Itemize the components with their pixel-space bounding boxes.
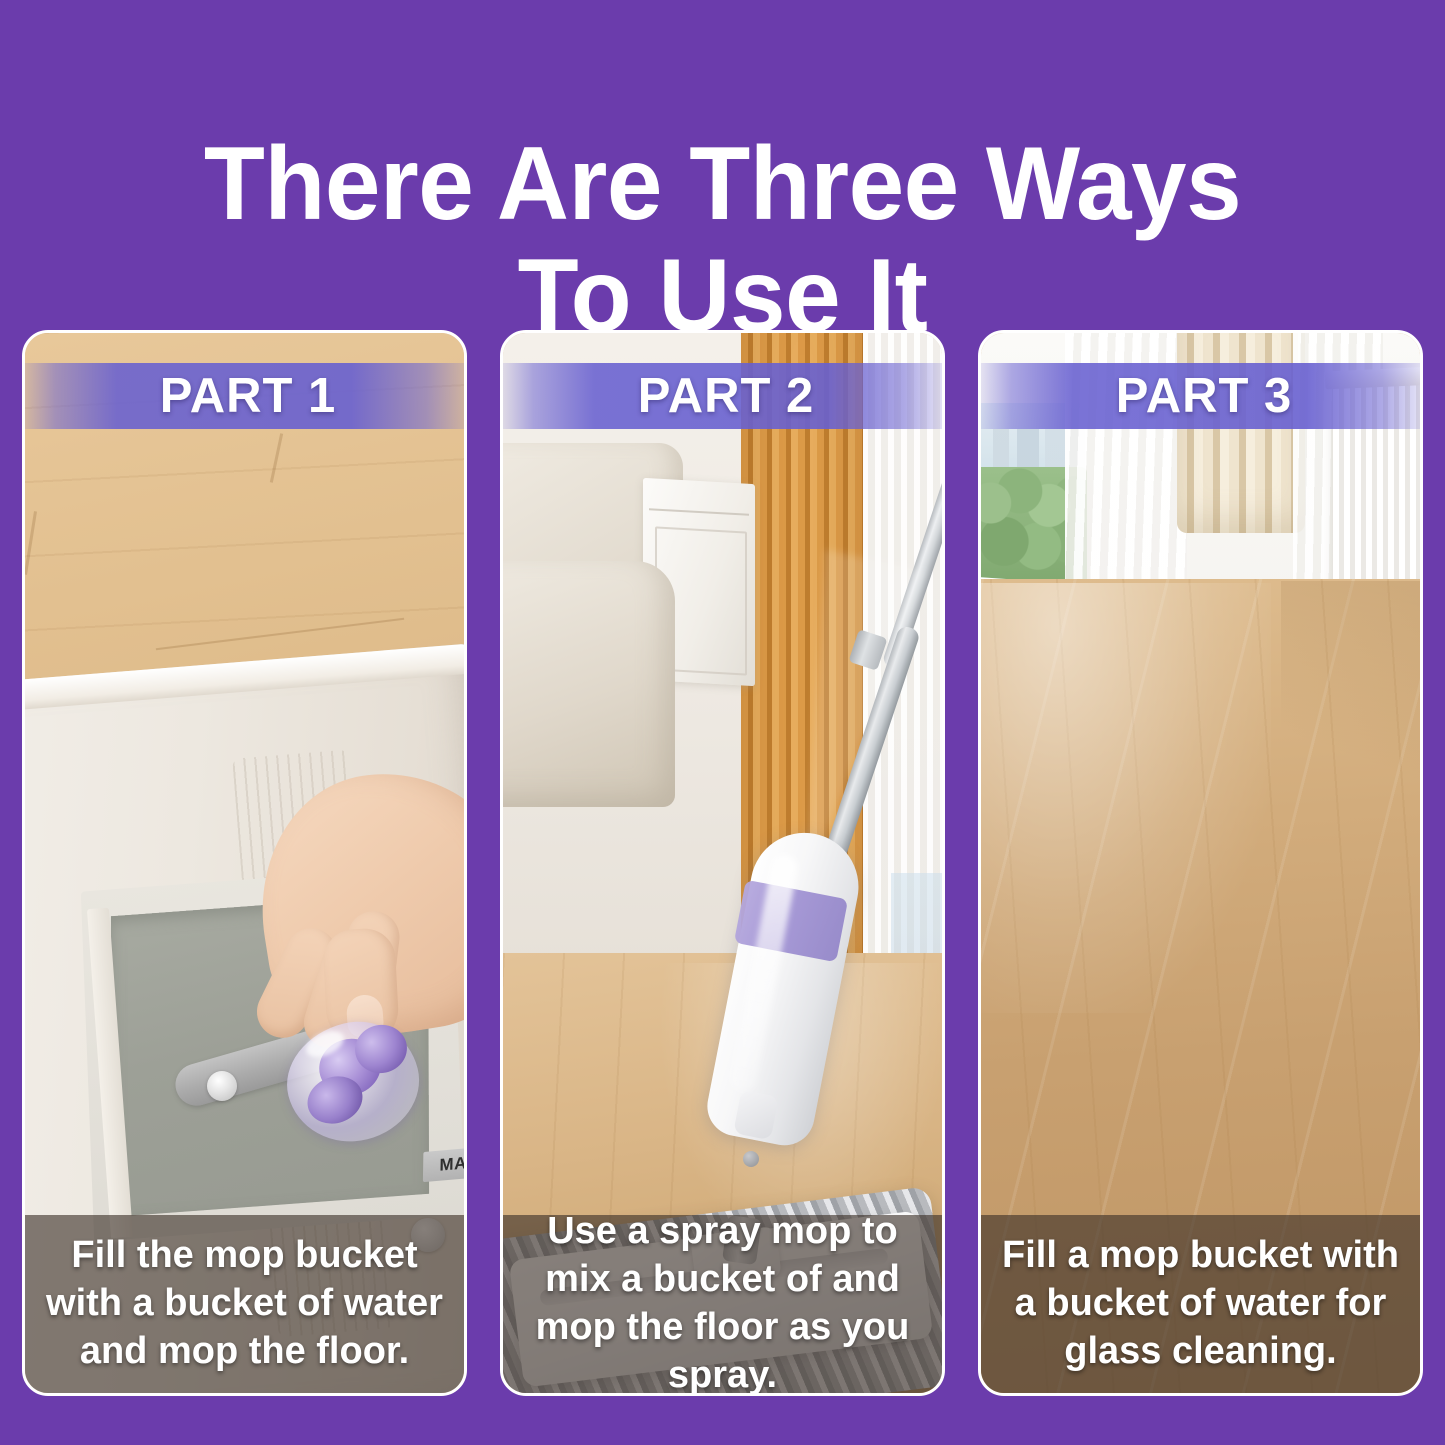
caption-part-3: Fill a mop bucket with a bucket of water… — [981, 1215, 1420, 1393]
panel-row: MAX PART 1 Fill the mop bucket with a bu… — [22, 330, 1423, 1396]
page-title-line-1: There Are Three Ways — [204, 126, 1241, 242]
caption-part-1: Fill the mop bucket with a bucket of wat… — [25, 1215, 464, 1393]
max-fill-label-text: MAX — [439, 1152, 464, 1176]
panel-part-3[interactable]: PART 3 Fill a mop bucket with a bucket o… — [978, 330, 1423, 1396]
sofa-seat — [503, 561, 675, 807]
caption-part-3-text: Fill a mop bucket with a bucket of water… — [981, 1232, 1420, 1376]
badge-part-2-label: PART 2 — [638, 368, 815, 424]
caption-part-1-text: Fill the mop bucket with a bucket of wat… — [25, 1232, 464, 1376]
max-fill-label: MAX — [423, 1146, 464, 1182]
handle-pivot-screw — [207, 1071, 237, 1101]
spray-nozzle — [743, 1151, 759, 1167]
badge-part-1-label: PART 1 — [160, 368, 337, 424]
panel-part-2[interactable]: PART 2 Use a spray mop to mix a bucket o… — [500, 330, 945, 1396]
caption-part-2: Use a spray mop to mix a bucket of and m… — [503, 1215, 942, 1393]
floor-shadow — [1281, 581, 1420, 821]
page-title: There Are Three Ways To Use It — [29, 128, 1416, 353]
infographic-poster: There Are Three Ways To Use It — [0, 0, 1445, 1445]
badge-part-2: PART 2 — [500, 363, 945, 429]
panel-part-1[interactable]: MAX PART 1 Fill the mop bucket with a bu… — [22, 330, 467, 1396]
floor-reflection — [981, 583, 1271, 1013]
caption-part-2-text: Use a spray mop to mix a bucket of and m… — [503, 1208, 942, 1396]
badge-part-3-label: PART 3 — [1116, 368, 1293, 424]
badge-part-1: PART 1 — [22, 363, 467, 429]
badge-part-3: PART 3 — [978, 363, 1423, 429]
